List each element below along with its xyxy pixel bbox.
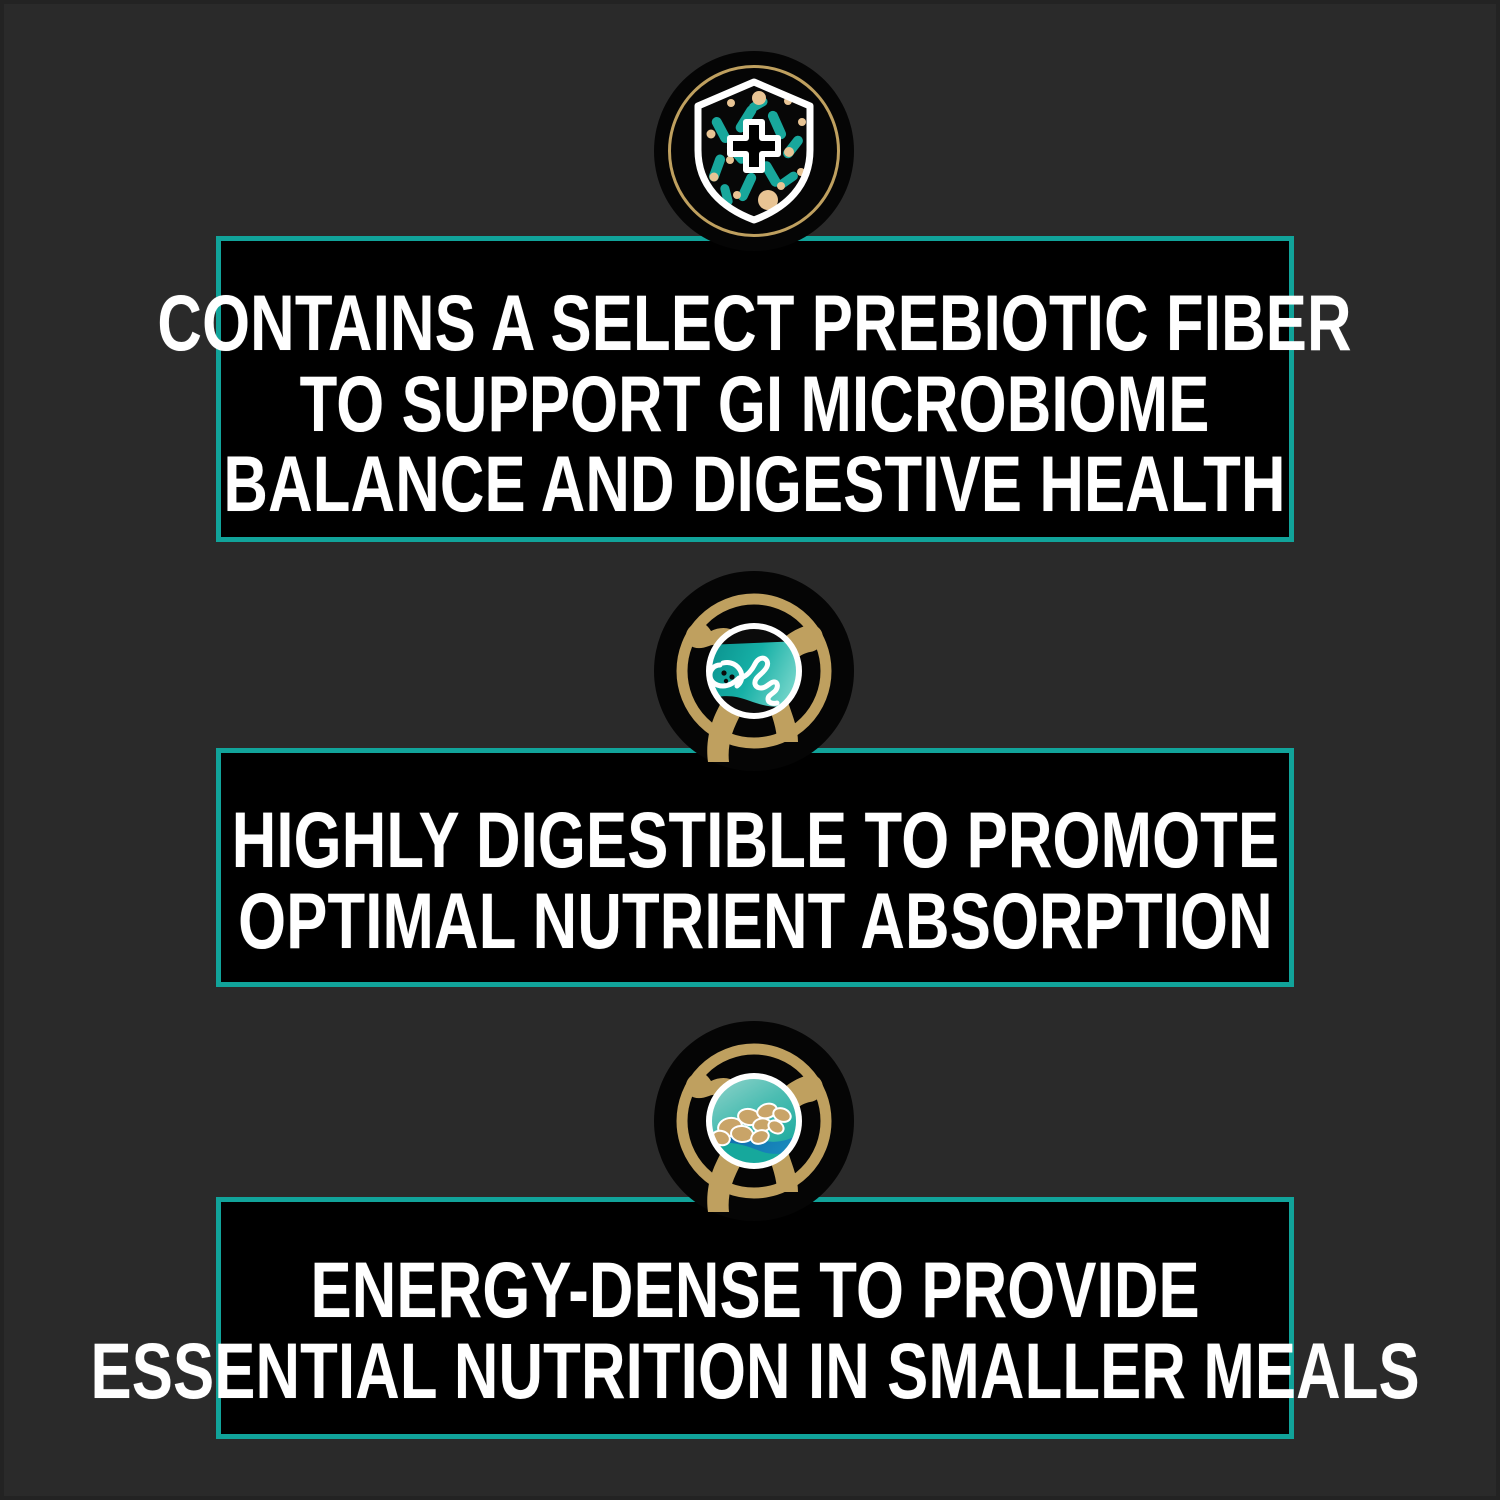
benefit-line: OPTIMAL NUTRIENT ABSORPTION: [231, 881, 1278, 962]
benefit-line: BALANCE AND DIGESTIVE HEALTH: [158, 444, 1352, 525]
benefit-line: HIGHLY DIGESTIBLE TO PROMOTE: [231, 800, 1278, 881]
benefit-line: CONTAINS A SELECT PREBIOTIC FIBER: [158, 283, 1352, 364]
badge-wrap-2: [4, 571, 1500, 771]
cat-digestive-tract-icon: [654, 571, 854, 771]
cat-kibble-bowl-icon: [654, 1021, 854, 1221]
badge-wrap-1: [4, 51, 1500, 251]
benefit-line: ESSENTIAL NUTRITION IN SMALLER MEALS: [90, 1331, 1419, 1412]
benefit-line: ENERGY-DENSE TO PROVIDE: [90, 1250, 1419, 1331]
benefit-line: TO SUPPORT GI MICROBIOME: [158, 364, 1352, 445]
benefit-text-3: ENERGY-DENSE TO PROVIDE ESSENTIAL NUTRIT…: [90, 1224, 1419, 1411]
benefit-panel-1: CONTAINS A SELECT PREBIOTIC FIBER TO SUP…: [216, 236, 1294, 542]
benefit-panel-3: ENERGY-DENSE TO PROVIDE ESSENTIAL NUTRIT…: [216, 1197, 1294, 1439]
benefits-panel-graphic: CONTAINS A SELECT PREBIOTIC FIBER TO SUP…: [0, 0, 1500, 1500]
benefit-panel-2: HIGHLY DIGESTIBLE TO PROMOTE OPTIMAL NUT…: [216, 748, 1294, 987]
badge-wrap-3: [4, 1021, 1500, 1221]
benefit-text-1: CONTAINS A SELECT PREBIOTIC FIBER TO SUP…: [158, 253, 1352, 525]
benefit-text-2: HIGHLY DIGESTIBLE TO PROMOTE OPTIMAL NUT…: [231, 774, 1278, 961]
shield-microbiome-icon: [654, 51, 854, 251]
